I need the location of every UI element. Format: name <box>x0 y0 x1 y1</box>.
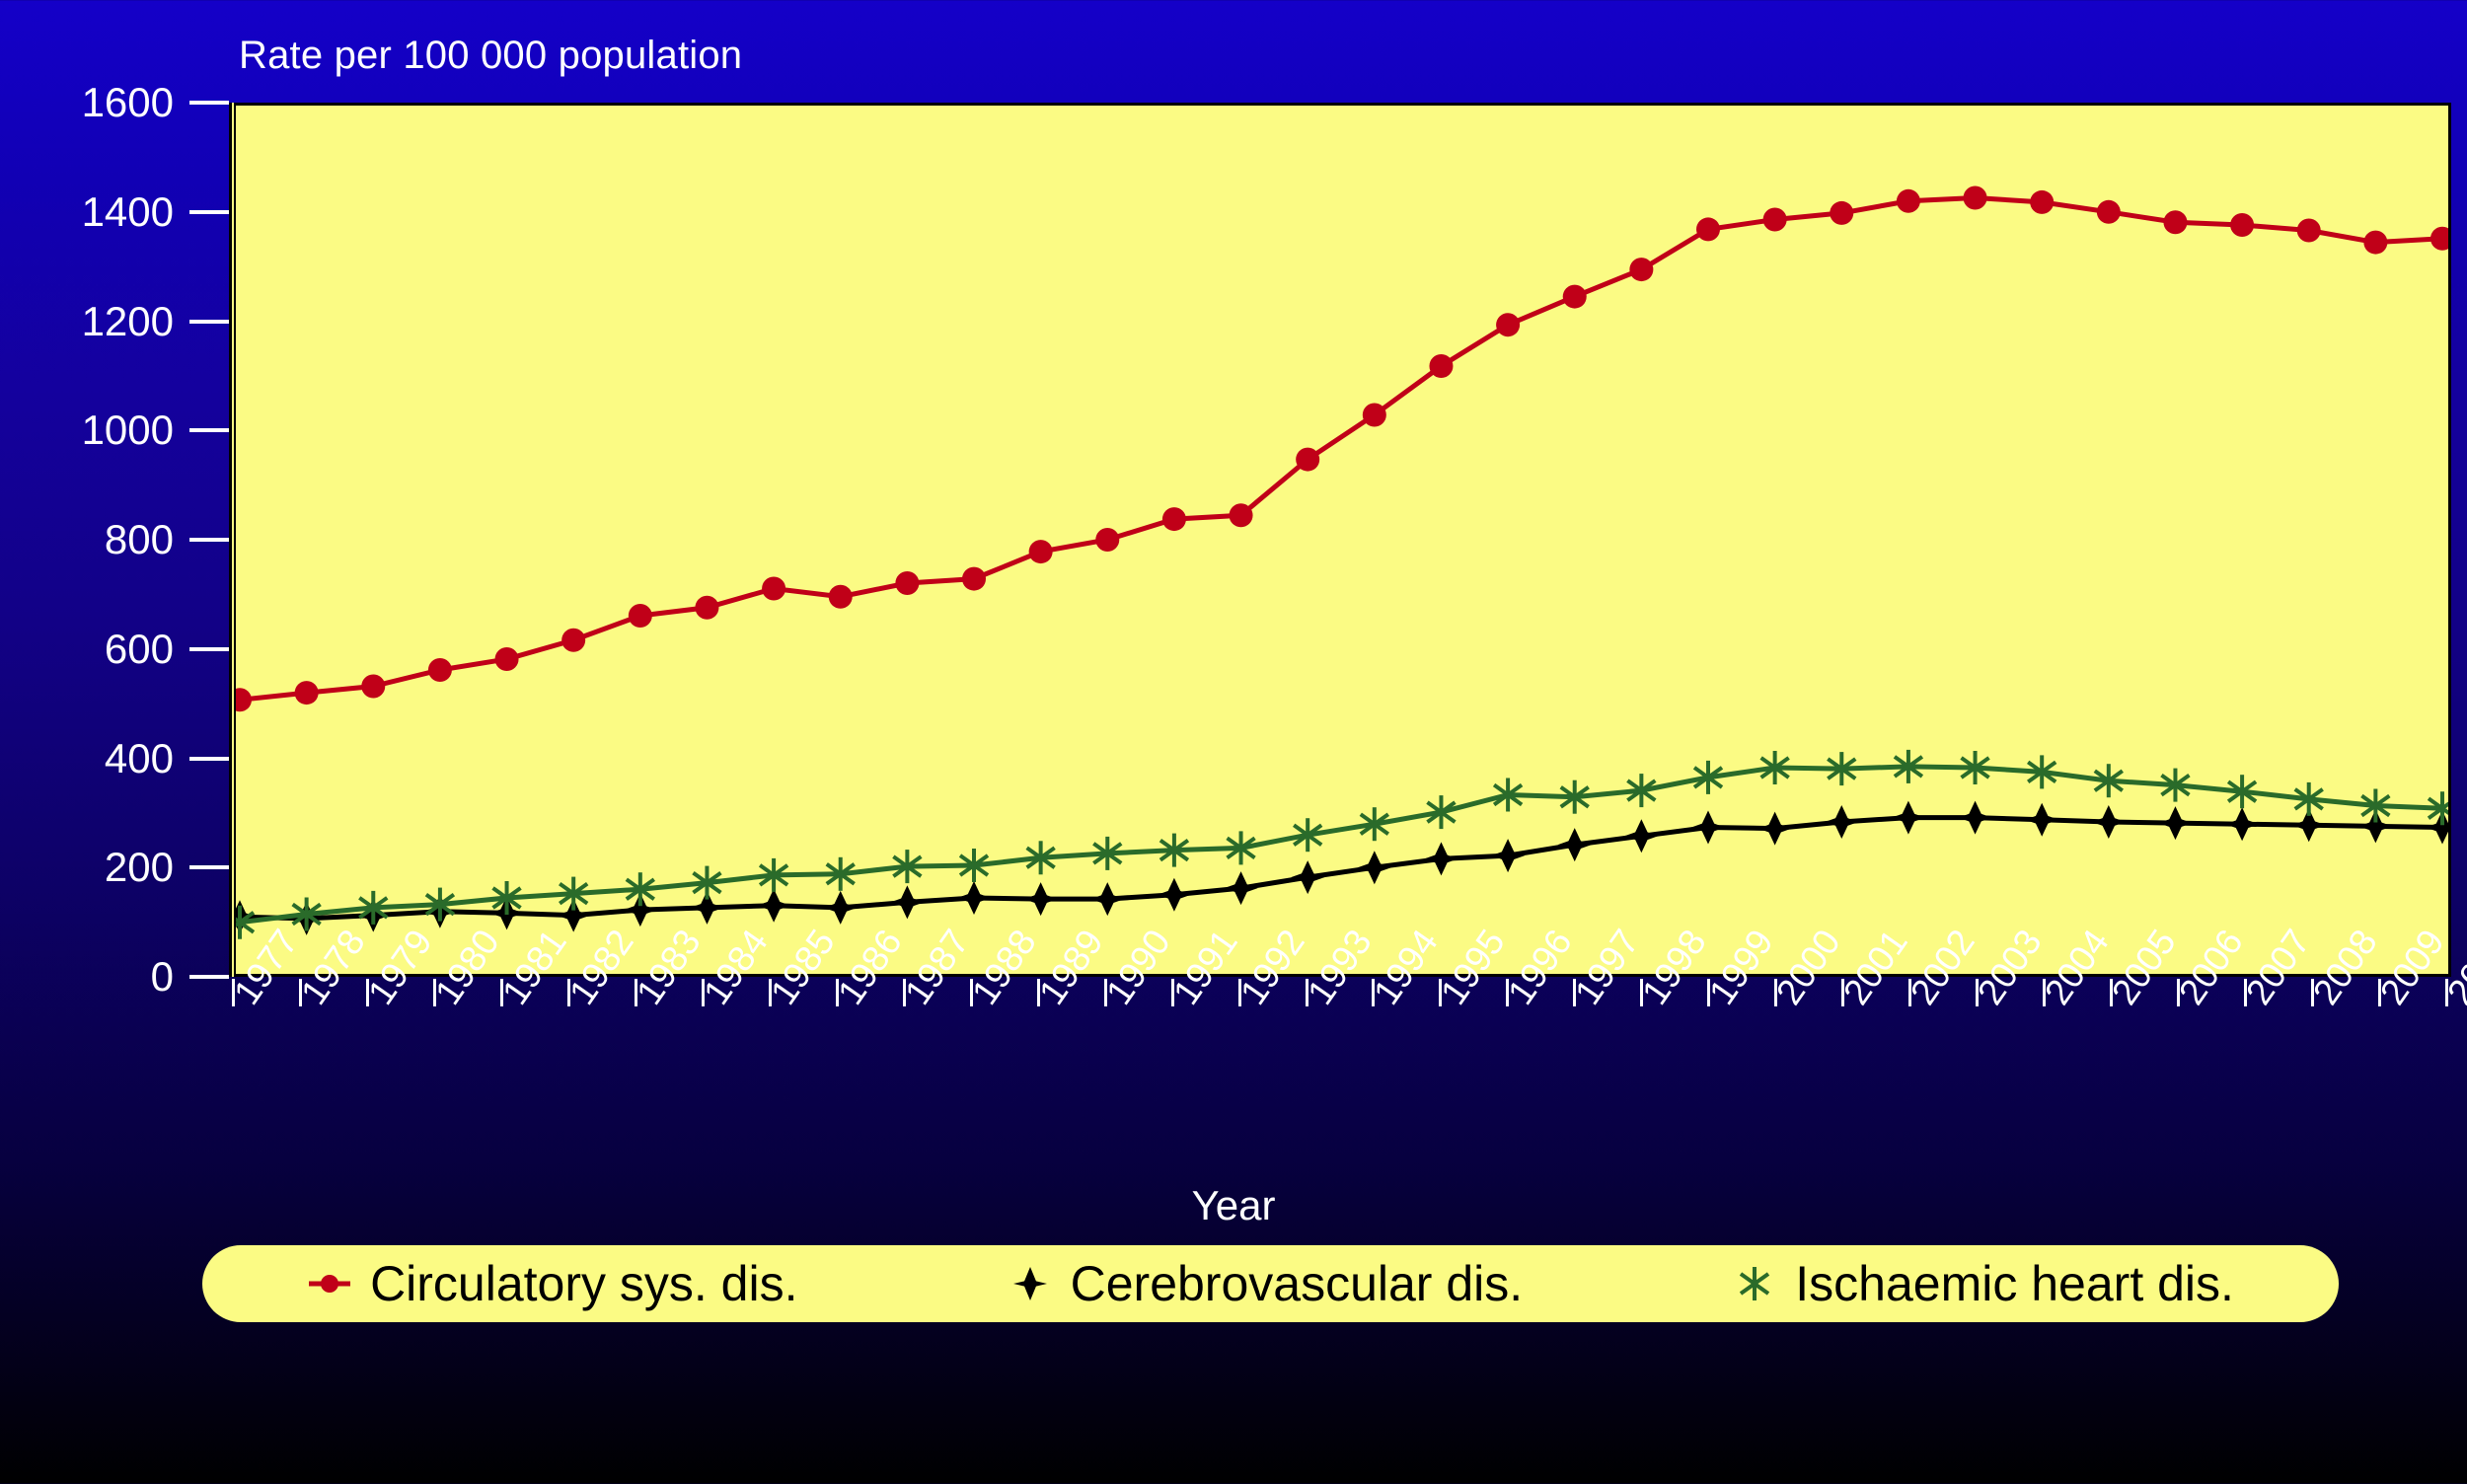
series-svg <box>232 106 2448 974</box>
diamond-marker <box>1959 801 1992 835</box>
y-axis-tick-mark <box>189 320 229 324</box>
series-line <box>240 818 2442 919</box>
circle-marker <box>895 571 919 595</box>
diamond-marker <box>2158 806 2192 840</box>
legend: Circulatory sys. dis. Cerebrovascular di… <box>202 1245 2339 1322</box>
circle-marker <box>1696 217 1720 241</box>
y-axis-tick-mark <box>189 538 229 542</box>
circle-marker <box>629 604 652 628</box>
diamond-marker <box>1892 801 1925 835</box>
diamond-marker <box>824 891 858 925</box>
series-line <box>240 767 2442 923</box>
legend-label-ischaemic: Ischaemic heart dis. <box>1795 1255 2234 1312</box>
diamond-marker <box>1491 839 1525 872</box>
circle-marker <box>829 585 853 609</box>
y-axis-tick-label: 1000 <box>0 405 174 456</box>
circle-marker <box>1964 186 1987 210</box>
plot-canvas <box>232 106 2448 974</box>
diamond-marker <box>2225 807 2259 841</box>
diamond-marker <box>1090 882 1124 916</box>
diamond-marker <box>2025 803 2058 837</box>
y-axis-tick-label: 400 <box>0 733 174 784</box>
legend-item-ischaemic[interactable]: Ischaemic heart dis. <box>1732 1255 2234 1312</box>
circle-marker <box>2163 210 2187 234</box>
y-axis-tick-mark <box>189 428 229 432</box>
diamond-marker <box>1691 811 1725 845</box>
legend-label-circulatory: Circulatory sys. dis. <box>370 1255 797 1312</box>
circle-marker <box>1296 448 1319 472</box>
series-ischaemic-heart-dis <box>232 750 2448 939</box>
y-axis-tick-mark <box>189 101 229 105</box>
circle-marker <box>1830 201 1853 225</box>
diamond-marker <box>1624 819 1658 853</box>
series-line <box>240 198 2442 701</box>
x-axis-title: Year <box>0 1182 2467 1229</box>
y-axis-tick-mark <box>189 975 229 979</box>
legend-label-cerebrovascular: Cerebrovascular dis. <box>1071 1255 1524 1312</box>
circle-marker <box>1363 404 1386 427</box>
y-axis-tick-mark <box>189 647 229 651</box>
y-axis-tick-label: 1400 <box>0 186 174 238</box>
diamond-marker <box>957 881 991 915</box>
y-axis-tick-mark <box>189 757 229 761</box>
diamond-marker <box>1424 842 1458 875</box>
circle-marker <box>1629 258 1653 281</box>
plot-area <box>229 103 2451 977</box>
diamond-marker <box>1291 860 1324 894</box>
diamond-marker <box>2092 805 2126 839</box>
diamond-marker <box>1758 812 1792 846</box>
y-axis-tick-mark <box>189 865 229 869</box>
circle-marker <box>1763 208 1787 232</box>
diamond-marker <box>1558 828 1592 861</box>
chart-root: Rate per 100 000 population 160014001200… <box>0 0 2467 1484</box>
y-axis-tick-label: 600 <box>0 624 174 675</box>
series-cerebrovascular-dis <box>232 801 2448 935</box>
diamond-marker <box>757 889 790 923</box>
circle-marker <box>1162 507 1186 531</box>
circle-marker <box>1230 503 1253 527</box>
plot-left-rule <box>229 103 236 977</box>
circle-marker <box>495 647 519 671</box>
y-axis-tick-label: 0 <box>0 951 174 1002</box>
circle-marker <box>2297 219 2321 243</box>
circle-marker <box>2430 227 2448 251</box>
circle-marker <box>2363 231 2387 255</box>
y-axis-tick-label: 1200 <box>0 296 174 347</box>
y-axis-tick-label: 200 <box>0 842 174 893</box>
y-axis-title: Rate per 100 000 population <box>239 34 742 78</box>
circle-marker <box>1095 528 1119 552</box>
circle-marker <box>1897 189 1920 213</box>
diamond-marker <box>1158 878 1191 912</box>
circle-marker <box>2030 190 2054 214</box>
diamond-marker <box>1225 871 1258 905</box>
star-marker-icon <box>1732 1261 1777 1306</box>
circle-marker <box>1029 540 1053 563</box>
diamond-marker-icon <box>1008 1261 1053 1306</box>
circle-marker <box>295 681 319 705</box>
circle-marker <box>1563 285 1587 309</box>
circle-marker <box>361 675 385 699</box>
legend-item-circulatory[interactable]: Circulatory sys. dis. <box>307 1255 797 1312</box>
legend-item-cerebrovascular[interactable]: Cerebrovascular dis. <box>1008 1255 1524 1312</box>
diamond-marker <box>1024 882 1058 916</box>
circle-marker <box>1429 354 1453 378</box>
circle-marker <box>428 658 452 682</box>
circle-marker <box>762 577 785 601</box>
circle-marker <box>695 596 718 620</box>
diamond-marker <box>890 885 924 919</box>
y-axis-tick-label: 800 <box>0 514 174 565</box>
circle-marker-icon <box>307 1261 352 1306</box>
circle-marker <box>2097 200 2121 224</box>
circle-marker <box>561 629 585 652</box>
circle-marker <box>962 567 986 591</box>
circle-marker <box>1496 313 1520 336</box>
series-circulatory-sys-dis <box>232 186 2448 712</box>
y-axis-tick-mark <box>189 210 229 214</box>
y-axis-tick-label: 1600 <box>0 77 174 128</box>
circle-marker <box>2230 213 2254 237</box>
diamond-marker <box>1358 851 1391 884</box>
diamond-marker <box>1825 805 1858 839</box>
